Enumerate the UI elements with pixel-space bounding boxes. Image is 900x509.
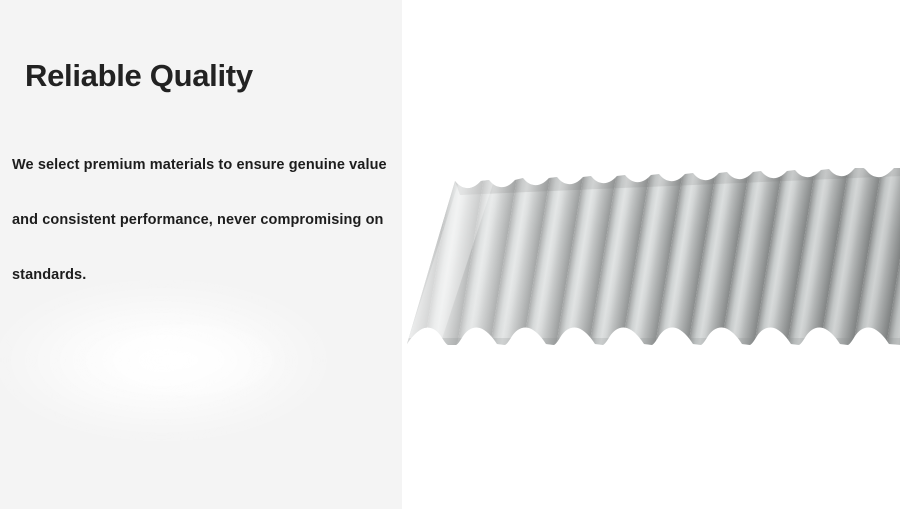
page-title: Reliable Quality <box>25 59 253 93</box>
promo-banner: Reliable Quality We select premium mater… <box>0 0 900 509</box>
panel-content: Reliable Quality We select premium mater… <box>0 0 402 509</box>
bottom-edge-rim <box>402 338 900 346</box>
body-paragraph: We select premium materials to ensure ge… <box>12 138 392 303</box>
product-image-area <box>402 0 900 509</box>
text-panel: Reliable Quality We select premium mater… <box>0 0 402 509</box>
sheet-body <box>402 120 900 400</box>
corrugated-sheet-illustration <box>402 0 900 509</box>
